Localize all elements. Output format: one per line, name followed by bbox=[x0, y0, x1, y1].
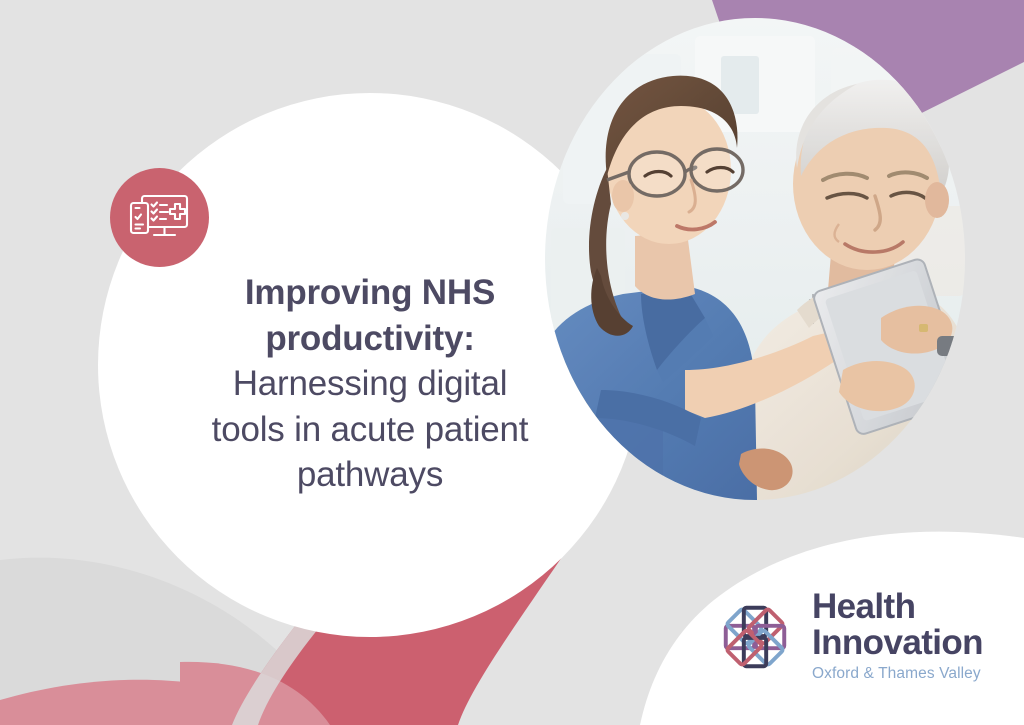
logo-strapline: Oxford & Thames Valley bbox=[812, 664, 983, 685]
page-title: Improving NHS productivity: Harnessing d… bbox=[128, 270, 612, 498]
title-line-5: pathways bbox=[128, 452, 612, 498]
title-line-2: productivity: bbox=[128, 316, 612, 362]
health-innovation-star-logo-mark bbox=[712, 594, 798, 680]
logo-wordmark: Health Innovation Oxford & Thames Valley bbox=[812, 589, 983, 686]
title-line-3: Harnessing digital bbox=[128, 361, 612, 407]
logo-line-innovation: Innovation bbox=[812, 625, 983, 661]
monitor-checklist-medical-cross-icon bbox=[110, 168, 209, 267]
report-cover-slide: Improving NHS productivity: Harnessing d… bbox=[0, 0, 1024, 725]
title-line-4: tools in acute patient bbox=[128, 407, 612, 453]
health-innovation-logo: Health Innovation Oxford & Thames Valley bbox=[712, 588, 1002, 686]
title-line-1: Improving NHS bbox=[128, 270, 612, 316]
logo-line-health: Health bbox=[812, 589, 983, 625]
